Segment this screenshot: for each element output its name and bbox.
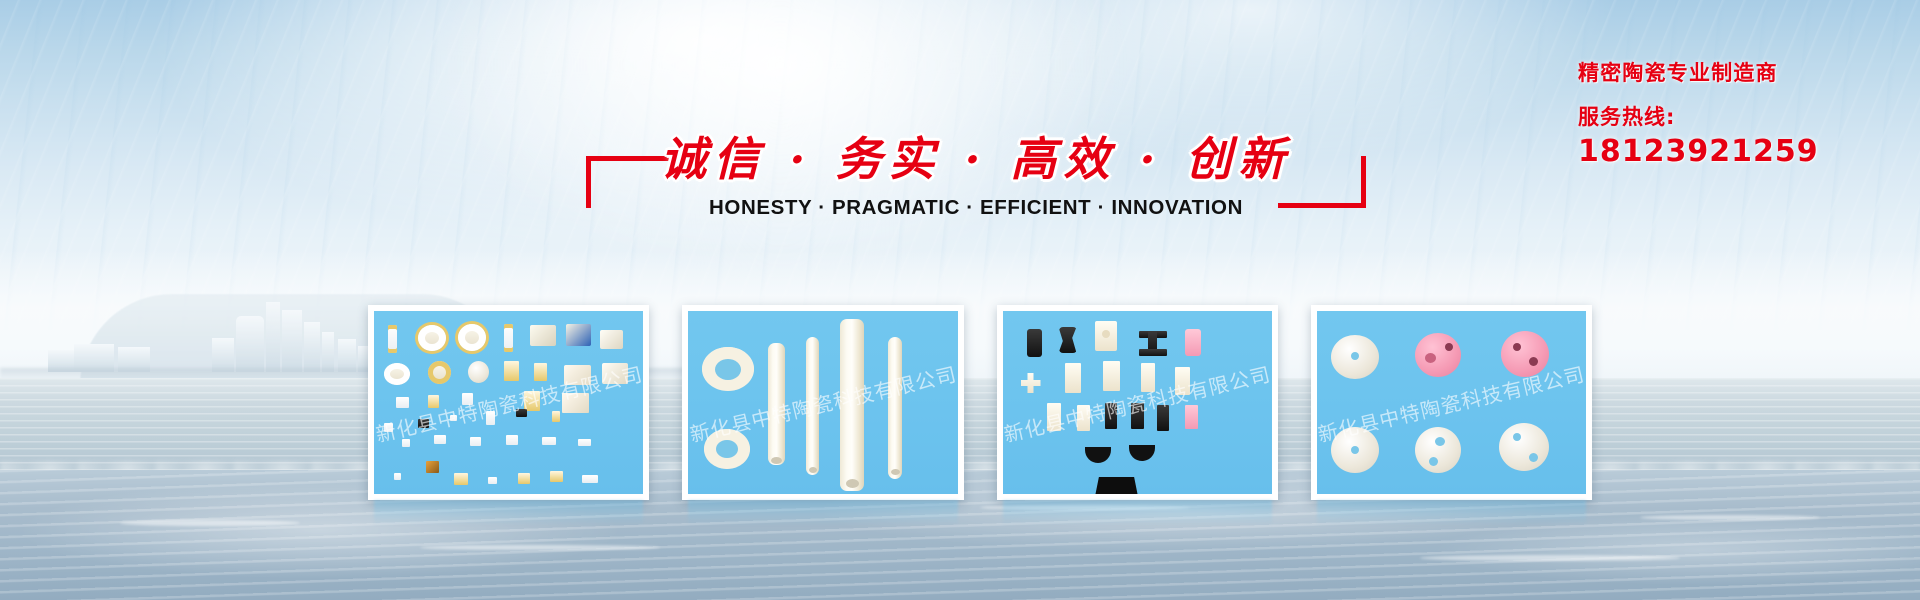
panel-reflection <box>1003 500 1272 526</box>
slogan-english: HONESTY · PRAGMATIC · EFFICIENT · INNOVA… <box>586 196 1366 220</box>
company-tagline: 精密陶瓷专业制造商 <box>1578 58 1908 88</box>
product-panel-3-image: 新化县中特陶瓷科技有限公司 <box>1003 311 1272 494</box>
panel-reflection <box>374 500 643 526</box>
panel-reflection <box>1317 500 1586 526</box>
product-panel-3[interactable]: 新化县中特陶瓷科技有限公司 <box>997 305 1278 500</box>
hero-banner: 诚信 · 务实 · 高效 · 创新 HONESTY · PRAGMATIC · … <box>0 0 1920 600</box>
building <box>282 310 302 372</box>
building <box>236 316 264 372</box>
building <box>266 302 280 372</box>
product-panel-1-image: 新化县中特陶瓷科技有限公司 <box>374 311 643 494</box>
product-panel-2-image: 新化县中特陶瓷科技有限公司 <box>688 311 957 494</box>
panel-reflection <box>688 500 957 526</box>
product-panel-4[interactable]: 新化县中特陶瓷科技有限公司 <box>1311 305 1592 500</box>
slogan-block: 诚信 · 务实 · 高效 · 创新 HONESTY · PRAGMATIC · … <box>586 130 1366 240</box>
contact-block: 精密陶瓷专业制造商 服务热线: 18123921259 <box>1578 58 1908 170</box>
product-panel-4-image: 新化县中特陶瓷科技有限公司 <box>1317 311 1586 494</box>
ripple <box>1640 515 1820 520</box>
building <box>322 332 334 372</box>
building <box>212 338 234 372</box>
hotline-number[interactable]: 18123921259 <box>1578 134 1908 170</box>
building <box>304 322 320 372</box>
product-panel-2[interactable]: 新化县中特陶瓷科技有限公司 <box>682 305 963 500</box>
hotline-label: 服务热线: <box>1578 102 1908 132</box>
ripple <box>120 520 300 526</box>
slogan-chinese: 诚信 · 务实 · 高效 · 创新 <box>586 130 1366 188</box>
product-panel-1[interactable]: 新化县中特陶瓷科技有限公司 <box>368 305 649 500</box>
ripple <box>1420 555 1680 561</box>
product-panel-row: 新化县中特陶瓷科技有限公司 新化县中特陶瓷科技有限公司 <box>368 305 1592 500</box>
ripple <box>420 545 660 550</box>
